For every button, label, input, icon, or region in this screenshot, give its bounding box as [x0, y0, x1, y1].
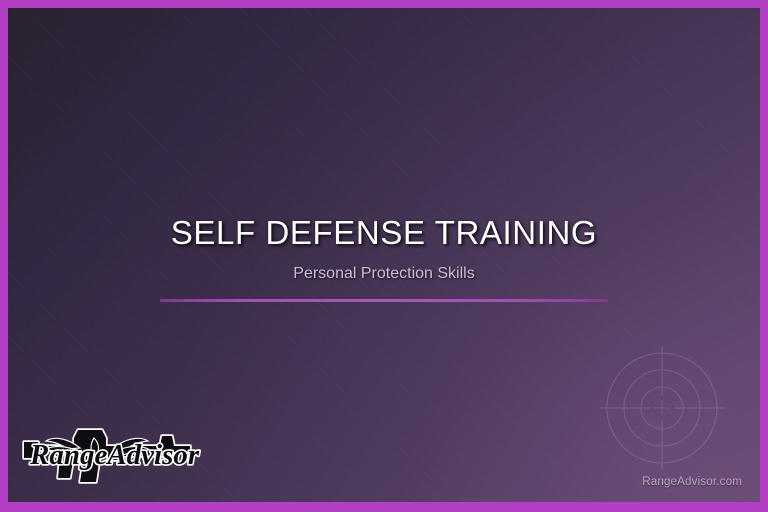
logo-wordmark: RangeAdvisor: [29, 439, 200, 471]
title-block: SELF DEFENSE TRAINING Personal Protectio…: [8, 213, 760, 302]
page-title: SELF DEFENSE TRAINING: [8, 213, 760, 253]
title-divider: [160, 299, 608, 302]
crosshair-target-icon: [598, 344, 726, 472]
brand-logo[interactable]: RangeAdvisor: [22, 416, 208, 490]
slide-canvas: SELF DEFENSE TRAINING Personal Protectio…: [8, 8, 760, 502]
site-watermark: RangeAdvisor.com: [642, 476, 742, 488]
page-subtitle: Personal Protection Skills: [8, 264, 760, 284]
presentation-slide: SELF DEFENSE TRAINING Personal Protectio…: [0, 0, 768, 512]
logo-brand-text: RangeAdvisor: [29, 439, 200, 471]
